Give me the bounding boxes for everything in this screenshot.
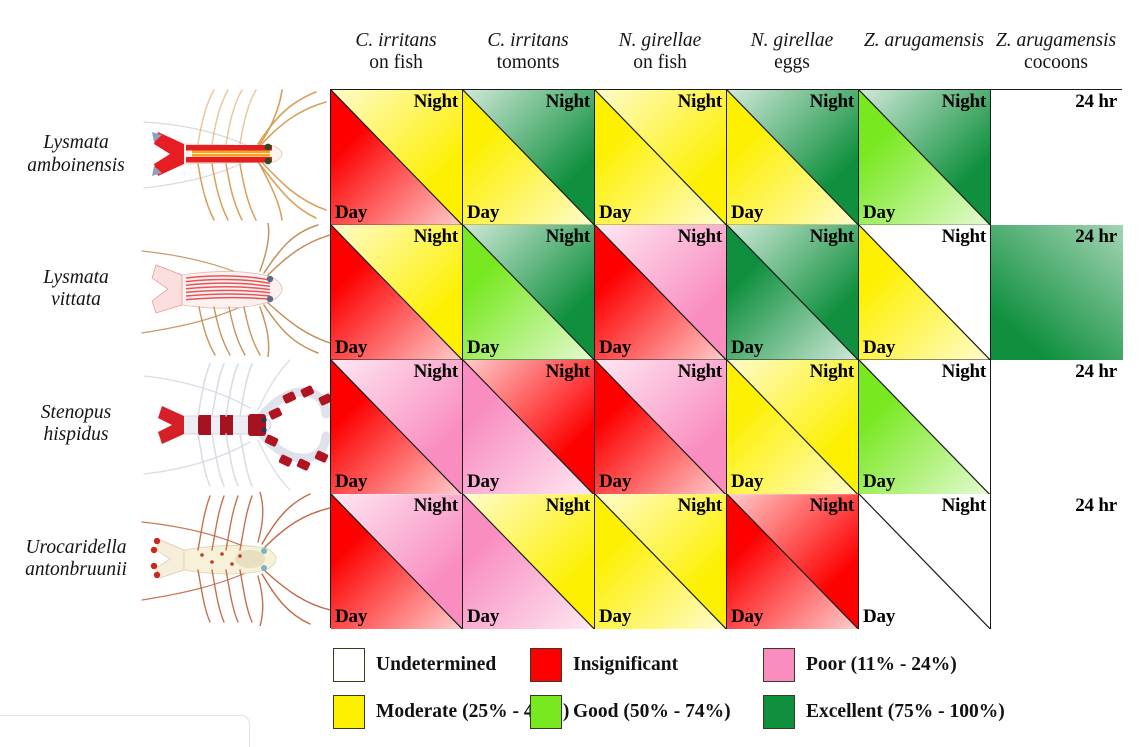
matrix-cell-r4-c3[interactable]: DayNight xyxy=(595,494,727,629)
legend: UndeterminedInsignificantPoor (11% - 24%… xyxy=(333,648,1133,734)
column-header-species: C. irritans xyxy=(322,30,470,52)
night-label: Night xyxy=(810,361,854,383)
column-header-4: N. girellaeeggs xyxy=(718,30,866,88)
night-label: Night xyxy=(942,361,986,383)
matrix-cell-r3-c4[interactable]: DayNight xyxy=(727,360,859,495)
column-header-2: C. irritanstomonts xyxy=(454,30,602,88)
day-label: Day xyxy=(731,471,763,493)
night-label: Night xyxy=(942,495,986,517)
day-label: Day xyxy=(599,337,631,359)
split-cell: DayNight xyxy=(859,90,990,225)
column-header-species: N. girellae xyxy=(718,30,866,52)
legend-swatch-insignificant xyxy=(530,648,562,682)
full-cell-undetermined: 24 hr xyxy=(991,90,1123,225)
full-day-label: 24 hr xyxy=(1075,226,1117,248)
matrix-cell-r4-c1[interactable]: DayNight xyxy=(331,494,463,629)
row-label-lysmata-amboinensis: Lysmataamboinensis xyxy=(6,132,146,176)
matrix-cell-r1-c6[interactable]: 24 hr xyxy=(991,90,1123,225)
split-cell: DayNight xyxy=(859,360,990,495)
matrix-cell-r3-c2[interactable]: DayNight xyxy=(463,360,595,495)
split-cell: DayNight xyxy=(463,90,594,225)
night-label: Night xyxy=(678,91,722,113)
row-label-genus: Lysmata xyxy=(6,267,146,289)
split-cell: DayNight xyxy=(727,225,858,360)
split-cell: DayNight xyxy=(331,494,462,629)
matrix-cell-r3-c3[interactable]: DayNight xyxy=(595,360,727,495)
row-label-genus: Lysmata xyxy=(6,132,146,154)
legend-swatch-moderate xyxy=(333,695,365,729)
split-cell: DayNight xyxy=(595,360,726,495)
matrix-cell-r1-c3[interactable]: DayNight xyxy=(595,90,727,225)
column-header-species: N. girellae xyxy=(586,30,734,52)
legend-item-poor: Poor (11% - 24%) xyxy=(763,648,957,682)
shrimp-illustration-stenopus-hispidus xyxy=(140,358,330,493)
day-label: Day xyxy=(467,202,499,224)
split-cell: DayNight xyxy=(595,90,726,225)
split-cell: DayNight xyxy=(463,494,594,629)
column-header-species: C. irritans xyxy=(454,30,602,52)
column-header-stage: on fish xyxy=(322,52,470,74)
legend-item-good: Good (50% - 74%) xyxy=(530,695,731,729)
column-header-1: C. irritanson fish xyxy=(322,30,470,88)
night-label: Night xyxy=(414,91,458,113)
column-header-5: Z. arugamensis xyxy=(850,30,998,88)
matrix-cell-r2-c2[interactable]: DayNight xyxy=(463,225,595,360)
matrix-cell-r4-c2[interactable]: DayNight xyxy=(463,494,595,629)
day-label: Day xyxy=(731,337,763,359)
split-cell: DayNight xyxy=(463,360,594,495)
column-header-stage: eggs xyxy=(718,52,866,74)
day-label: Day xyxy=(467,337,499,359)
day-label: Day xyxy=(731,202,763,224)
background-panel-stub xyxy=(0,715,250,747)
day-label: Day xyxy=(863,202,895,224)
night-label: Night xyxy=(414,495,458,517)
night-label: Night xyxy=(942,91,986,113)
night-label: Night xyxy=(678,361,722,383)
row-label-genus: Urocaridella xyxy=(6,537,146,559)
column-header-stage: on fish xyxy=(586,52,734,74)
column-header-stage: tomonts xyxy=(454,52,602,74)
full-cell-excellent: 24 hr xyxy=(991,225,1123,360)
matrix-row-lysmata-vittata: DayNightDayNightDayNightDayNightDayNight… xyxy=(331,225,1123,360)
cleaner-shrimp-efficacy-matrix-figure: C. irritanson fishC. irritanstomontsN. g… xyxy=(0,0,1147,747)
shrimp-illustration-lysmata-vittata xyxy=(140,223,330,358)
matrix-row-lysmata-amboinensis: DayNightDayNightDayNightDayNightDayNight… xyxy=(331,90,1123,225)
day-label: Day xyxy=(335,337,367,359)
matrix-cell-r4-c6[interactable]: 24 hr xyxy=(991,494,1123,629)
legend-label-undetermined: Undetermined xyxy=(376,654,496,676)
day-label: Day xyxy=(467,471,499,493)
split-cell: DayNight xyxy=(595,225,726,360)
row-label-species: hispidus xyxy=(6,424,146,446)
row-label-lysmata-vittata: Lysmatavittata xyxy=(6,267,146,311)
row-label-genus: Stenopus xyxy=(6,402,146,424)
row-label-urocaridella-antonbruunii: Urocaridellaantonbruunii xyxy=(6,537,146,581)
legend-swatch-excellent xyxy=(763,695,795,729)
legend-swatch-good xyxy=(530,695,562,729)
split-cell: DayNight xyxy=(331,360,462,495)
matrix-cell-r3-c1[interactable]: DayNight xyxy=(331,360,463,495)
split-cell: DayNight xyxy=(727,360,858,495)
full-cell-undetermined: 24 hr xyxy=(991,494,1123,629)
full-day-label: 24 hr xyxy=(1075,495,1117,517)
matrix-cell-r1-c5[interactable]: DayNight xyxy=(859,90,991,225)
night-label: Night xyxy=(414,361,458,383)
legend-label-insignificant: Insignificant xyxy=(573,654,678,676)
matrix-cell-r2-c3[interactable]: DayNight xyxy=(595,225,727,360)
column-header-species: Z. arugamensis xyxy=(982,30,1130,52)
legend-label-good: Good (50% - 74%) xyxy=(573,701,731,723)
row-label-species: vittata xyxy=(6,289,146,311)
night-label: Night xyxy=(810,91,854,113)
day-label: Day xyxy=(863,606,895,628)
full-day-label: 24 hr xyxy=(1075,91,1117,113)
night-label: Night xyxy=(810,226,854,248)
day-label: Day xyxy=(863,471,895,493)
full-day-label: 24 hr xyxy=(1075,361,1117,383)
matrix-cell-r3-c5[interactable]: DayNight xyxy=(859,360,991,495)
matrix-cell-r2-c4[interactable]: DayNight xyxy=(727,225,859,360)
day-label: Day xyxy=(335,471,367,493)
column-header-3: N. girellaeon fish xyxy=(586,30,734,88)
day-label: Day xyxy=(335,202,367,224)
legend-item-undetermined: Undetermined xyxy=(333,648,496,682)
day-label: Day xyxy=(467,606,499,628)
day-label: Day xyxy=(863,337,895,359)
matrix-cell-r2-c5[interactable]: DayNight xyxy=(859,225,991,360)
matrix-row-stenopus-hispidus: DayNightDayNightDayNightDayNightDayNight… xyxy=(331,360,1123,495)
matrix-cell-r2-c1[interactable]: DayNight xyxy=(331,225,463,360)
night-label: Night xyxy=(546,495,590,517)
split-cell: DayNight xyxy=(331,90,462,225)
legend-label-excellent: Excellent (75% - 100%) xyxy=(806,701,1005,723)
legend-label-poor: Poor (11% - 24%) xyxy=(806,654,957,676)
split-cell: DayNight xyxy=(727,494,858,629)
legend-item-excellent: Excellent (75% - 100%) xyxy=(763,695,1005,729)
night-label: Night xyxy=(546,226,590,248)
day-label: Day xyxy=(599,606,631,628)
row-label-species: antonbruunii xyxy=(6,559,146,581)
matrix-row-urocaridella-antonbruunii: DayNightDayNightDayNightDayNightDayNight… xyxy=(331,494,1123,629)
matrix-cell-r2-c6[interactable]: 24 hr xyxy=(991,225,1123,360)
shrimp-illustration-lysmata-amboinensis xyxy=(140,88,330,223)
column-header-species: Z. arugamensis xyxy=(850,30,998,52)
legend-swatch-undetermined xyxy=(333,648,365,682)
day-label: Day xyxy=(335,606,367,628)
night-label: Night xyxy=(942,226,986,248)
night-label: Night xyxy=(678,495,722,517)
night-label: Night xyxy=(678,226,722,248)
legend-swatch-poor xyxy=(763,648,795,682)
split-cell: DayNight xyxy=(595,494,726,629)
split-cell: DayNight xyxy=(463,225,594,360)
legend-item-insignificant: Insignificant xyxy=(530,648,678,682)
matrix-cell-r3-c6[interactable]: 24 hr xyxy=(991,360,1123,495)
column-header-stage: cocoons xyxy=(982,52,1130,74)
night-label: Night xyxy=(546,91,590,113)
night-label: Night xyxy=(546,361,590,383)
night-label: Night xyxy=(810,495,854,517)
matrix-cell-r1-c2[interactable]: DayNight xyxy=(463,90,595,225)
matrix-cell-r4-c5[interactable]: DayNight xyxy=(859,494,991,629)
shrimp-illustration-urocaridella-antonbruunii xyxy=(140,492,330,627)
column-header-6: Z. arugamensiscocoons xyxy=(982,30,1130,88)
split-cell: DayNight xyxy=(727,90,858,225)
matrix-cell-r1-c4[interactable]: DayNight xyxy=(727,90,859,225)
matrix-cell-r1-c1[interactable]: DayNight xyxy=(331,90,463,225)
row-label-species: amboinensis xyxy=(6,155,146,177)
row-label-stenopus-hispidus: Stenopushispidus xyxy=(6,402,146,446)
full-cell-undetermined: 24 hr xyxy=(991,360,1123,495)
matrix-cell-r4-c4[interactable]: DayNight xyxy=(727,494,859,629)
split-cell: DayNight xyxy=(331,225,462,360)
day-label: Day xyxy=(599,471,631,493)
split-cell: DayNight xyxy=(859,494,990,629)
split-cell: DayNight xyxy=(859,225,990,360)
day-label: Day xyxy=(731,606,763,628)
efficacy-matrix: DayNightDayNightDayNightDayNightDayNight… xyxy=(330,89,1122,628)
night-label: Night xyxy=(414,226,458,248)
day-label: Day xyxy=(599,202,631,224)
